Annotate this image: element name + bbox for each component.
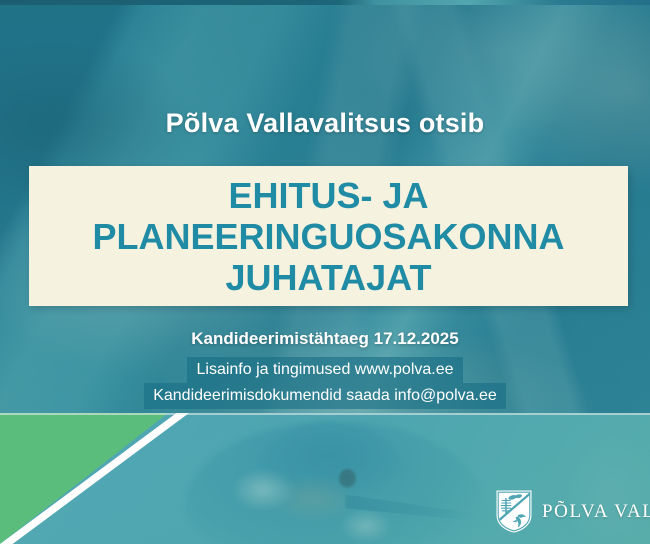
coat-of-arms-shield-icon	[495, 489, 533, 534]
contact-row-2: Kandideerimisdokumendid saada info@polva…	[0, 383, 650, 409]
job-title-line-1: EHITUS- JA	[29, 175, 628, 216]
logo-wordmark: PÕLVA VALD	[542, 501, 650, 523]
job-title-line-3: JUHATAJAT	[29, 257, 628, 298]
job-title-panel: EHITUS- JA PLANEERINGUOSAKONNA JUHATAJAT	[29, 166, 628, 306]
job-title-line-2: PLANEERINGUOSAKONNA	[29, 216, 628, 257]
contact-row-1: Lisainfo ja tingimused www.polva.ee	[0, 357, 650, 383]
contact-info: Lisainfo ja tingimused www.polva.ee Kand…	[0, 357, 650, 409]
contact-email-line[interactable]: Kandideerimisdokumendid saada info@polva…	[144, 383, 506, 409]
band-separator-line	[0, 413, 650, 415]
polva-vald-logo[interactable]: PÕLVA VALD	[495, 489, 650, 534]
application-deadline: Kandideerimistähtaeg 17.12.2025	[0, 329, 650, 349]
contact-website-line[interactable]: Lisainfo ja tingimused www.polva.ee	[187, 357, 462, 383]
job-title: EHITUS- JA PLANEERINGUOSAKONNA JUHATAJAT	[29, 175, 628, 298]
kicker-headline: Põlva Vallavalitsus otsib	[0, 108, 650, 139]
job-advert-poster: Põlva Vallavalitsus otsib EHITUS- JA PLA…	[0, 0, 650, 544]
top-edge-strip	[0, 0, 650, 5]
